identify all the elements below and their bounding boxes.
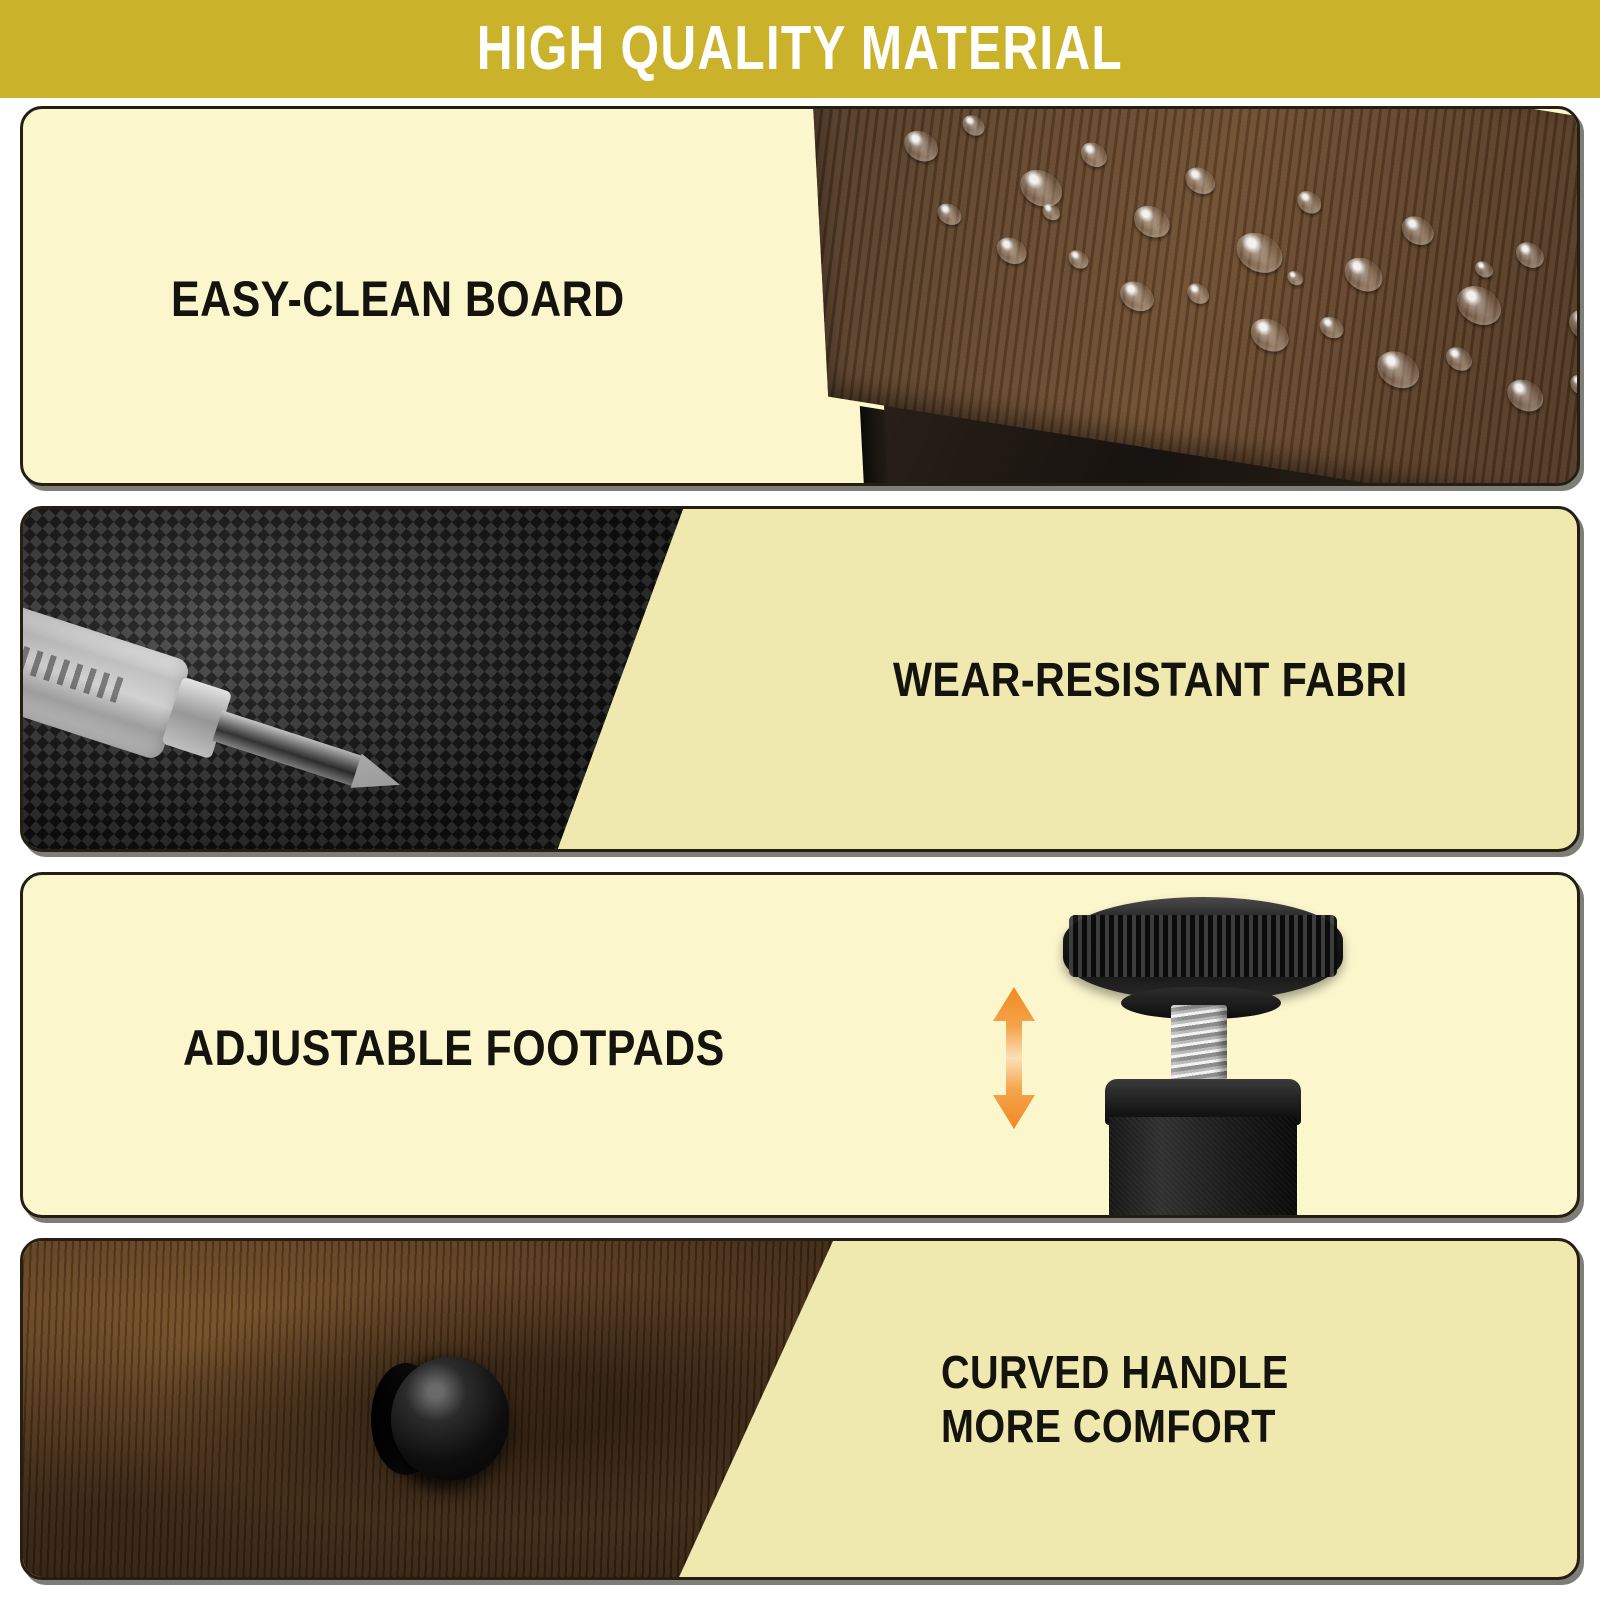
leg-post-shape <box>1109 1117 1297 1218</box>
water-droplet-icon <box>1235 229 1283 276</box>
page-title: HIGH QUALITY MATERIAL <box>477 18 1123 80</box>
water-droplet-icon <box>1185 165 1216 196</box>
water-droplet-icon <box>1568 307 1577 344</box>
feature-panel-wear-resistant-fabric: WEAR-RESISTANT FABRI <box>20 506 1580 852</box>
panel-label-curved-handle-line1: CURVED HANDLE <box>941 1345 1289 1399</box>
tabletop-droplets-image <box>777 109 1577 483</box>
water-droplet-icon <box>1570 373 1577 397</box>
water-droplet-icon <box>1250 316 1290 354</box>
water-droplet-icon <box>1376 348 1420 391</box>
water-droplet-icon <box>1119 279 1154 314</box>
water-droplet-icon <box>1080 141 1107 169</box>
water-droplet-icon <box>1445 345 1472 372</box>
screwdriver-tip-shape <box>351 754 406 802</box>
water-droplet-icon <box>903 128 939 164</box>
panel-label-easy-clean-board: EASY-CLEAN BOARD <box>171 270 625 329</box>
water-droplet-icon <box>937 202 962 227</box>
knurled-knob-shape <box>1063 897 1343 1001</box>
water-droplet-icon <box>1187 282 1210 306</box>
screwdriver-handle-shape <box>20 604 192 762</box>
panel-label-adjustable-footpads: ADJUSTABLE FOOTPADS <box>183 1019 725 1078</box>
water-droplet-icon <box>1019 167 1063 210</box>
curved-knob-handle-shape <box>391 1357 509 1481</box>
screwdriver-collar-shape <box>161 677 232 760</box>
water-droplet-icon <box>1475 260 1494 279</box>
water-droplet-icon <box>1068 249 1089 270</box>
fabric-screwdriver-image <box>23 509 683 849</box>
feature-panel-curved-handle: CURVED HANDLE MORE COMFORT <box>20 1238 1580 1580</box>
water-droplet-icon <box>1319 315 1344 340</box>
panel-label-wear-resistant-fabric: WEAR-RESISTANT FABRI <box>893 653 1408 710</box>
feature-panel-easy-clean-board: EASY-CLEAN BOARD <box>20 106 1580 486</box>
screwdriver-icon <box>20 583 417 852</box>
adjustable-footpad-image <box>953 875 1373 1215</box>
water-droplet-icon <box>1456 283 1502 328</box>
water-droplet-icon <box>1287 270 1304 287</box>
feature-panel-adjustable-footpads: ADJUSTABLE FOOTPADS <box>20 872 1580 1218</box>
infographic-page: HIGH QUALITY MATERIAL <box>0 0 1600 1600</box>
water-droplet-icon <box>1515 240 1544 270</box>
water-droplet-icon <box>1297 189 1322 215</box>
panel-label-curved-handle-line2: MORE COMFORT <box>941 1399 1289 1453</box>
threaded-screw-shape <box>1171 1005 1227 1087</box>
screwdriver-shaft-shape <box>212 710 365 787</box>
water-droplet-icon <box>1133 203 1171 240</box>
up-down-arrow-icon <box>993 987 1035 1129</box>
water-droplet-icon <box>1042 203 1061 222</box>
water-droplet-icon <box>1344 255 1384 294</box>
water-droplet-icon <box>996 235 1027 266</box>
water-droplet-icon <box>1401 214 1434 247</box>
water-droplet-icon <box>962 114 985 138</box>
wood-panel-knob-handle-image <box>23 1241 833 1577</box>
header-banner: HIGH QUALITY MATERIAL <box>0 0 1600 98</box>
panel-label-curved-handle: CURVED HANDLE MORE COMFORT <box>941 1345 1289 1454</box>
water-droplet-icon <box>1506 377 1544 414</box>
